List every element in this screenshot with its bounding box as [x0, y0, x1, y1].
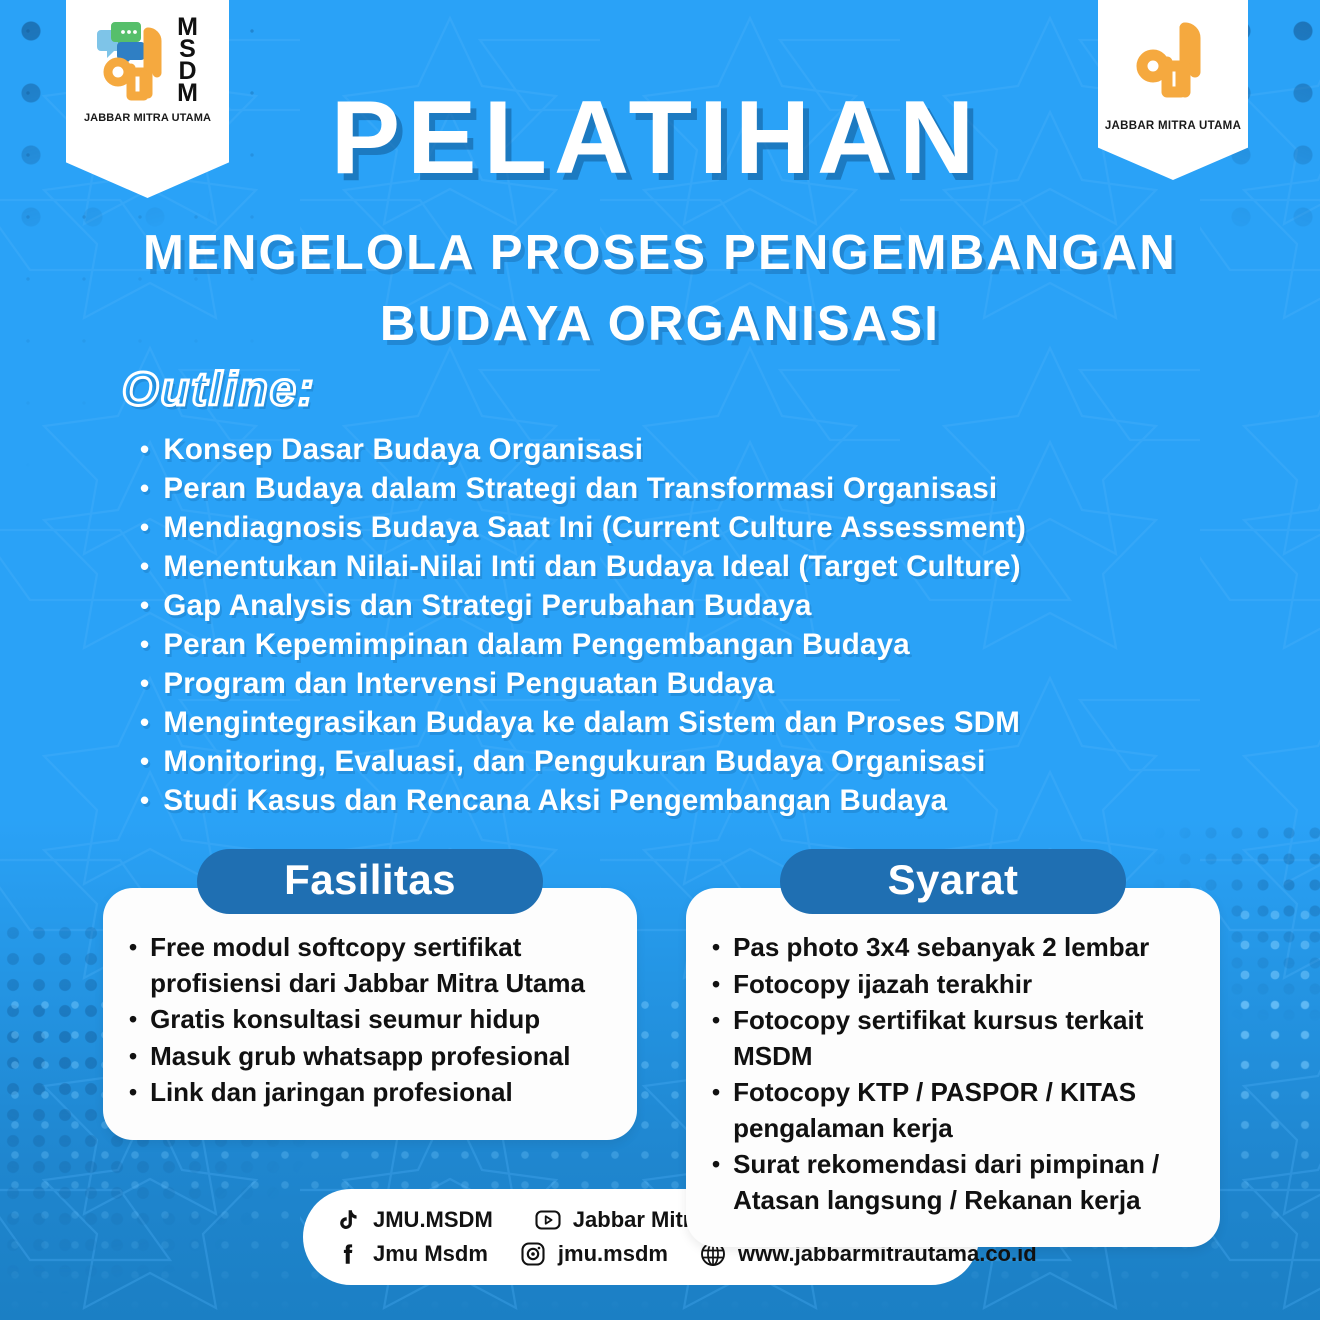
list-item: •Fotocopy sertifikat kursus terkait MSDM — [712, 1003, 1194, 1074]
list-item-label: Surat rekomendasi dari pimpinan / Atasan… — [733, 1147, 1194, 1218]
outline-item: •Gap Analysis dan Strategi Perubahan Bud… — [140, 586, 1200, 625]
list-item: •Free modul softcopy sertifikat profisie… — [129, 930, 611, 1001]
outline-item: •Peran Budaya dalam Strategi dan Transfo… — [140, 469, 1200, 508]
footer-contact-label: Jmu Msdm — [373, 1241, 488, 1267]
bullet-icon: • — [712, 930, 720, 966]
msdm-logo-mark: M S D M — [97, 16, 198, 104]
footer-contact-item[interactable]: JMU.MSDM — [333, 1205, 493, 1235]
list-item-label: Free modul softcopy sertifikat profisien… — [150, 930, 611, 1001]
bullet-icon: • — [712, 1075, 720, 1111]
syarat-card-body: •Pas photo 3x4 sebanyak 2 lembar•Fotocop… — [686, 888, 1220, 1247]
page-subtitle-line1: MENGELOLA PROSES PENGEMBANGAN — [60, 218, 1260, 289]
logo-banner-left: M S D M JABBAR MITRA UTAMA — [66, 0, 229, 198]
fasilitas-badge: Fasilitas — [197, 849, 543, 914]
logo-caption-left: JABBAR MITRA UTAMA — [84, 112, 211, 124]
outline-item-label: Menentukan Nilai-Nilai Inti dan Budaya I… — [163, 547, 1020, 586]
logo-caption-right: JABBAR MITRA UTAMA — [1105, 120, 1241, 132]
list-item: •Link dan jaringan profesional — [129, 1075, 611, 1111]
bullet-icon: • — [140, 469, 149, 508]
bullet-icon: • — [129, 1075, 137, 1111]
outline-item: •Peran Kepemimpinan dalam Pengembangan B… — [140, 625, 1200, 664]
syarat-badge: Syarat — [780, 849, 1126, 914]
outline-item-label: Konsep Dasar Budaya Organisasi — [163, 430, 643, 469]
outline-heading: Outline: — [122, 361, 316, 416]
page-title: PELATIHAN — [246, 86, 1066, 190]
outline-item: •Mendiagnosis Budaya Saat Ini (Current C… — [140, 508, 1200, 547]
bullet-icon: • — [129, 1002, 137, 1038]
fasilitas-card-body: •Free modul softcopy sertifikat profisie… — [103, 888, 637, 1140]
outline-item-label: Peran Kepemimpinan dalam Pengembangan Bu… — [163, 625, 910, 664]
bullet-icon: • — [140, 586, 149, 625]
instagram-icon[interactable] — [518, 1239, 548, 1269]
bullet-icon: • — [712, 1147, 720, 1183]
facebook-icon[interactable] — [333, 1239, 363, 1269]
bullet-icon: • — [140, 547, 149, 586]
poster-canvas: M S D M JABBAR MITRA UTAMA JABBAR MITRA … — [0, 0, 1320, 1320]
outline-item: •Mengintegrasikan Budaya ke dalam Sistem… — [140, 703, 1200, 742]
list-item: •Pas photo 3x4 sebanyak 2 lembar — [712, 930, 1194, 966]
bullet-icon: • — [140, 703, 149, 742]
bullet-icon: • — [140, 781, 149, 820]
msdm-logo-icon — [97, 16, 171, 104]
footer-contact-item[interactable]: jmu.msdm — [518, 1239, 668, 1269]
list-item: •Gratis konsultasi seumur hidup — [129, 1002, 611, 1038]
list-item-label: Fotocopy ijazah terakhir — [733, 967, 1032, 1003]
fasilitas-list: •Free modul softcopy sertifikat profisie… — [129, 930, 611, 1111]
list-item-label: Gratis konsultasi seumur hidup — [150, 1002, 540, 1038]
outline-item-label: Mengintegrasikan Budaya ke dalam Sistem … — [163, 703, 1020, 742]
page-subtitle-line2: BUDAYA ORGANISASI — [60, 289, 1260, 360]
list-item: •Surat rekomendasi dari pimpinan / Atasa… — [712, 1147, 1194, 1218]
youtube-icon[interactable] — [533, 1205, 563, 1235]
outline-item-label: Gap Analysis dan Strategi Perubahan Buda… — [163, 586, 811, 625]
bullet-icon: • — [129, 930, 137, 966]
outline-item: •Program dan Intervensi Penguatan Budaya — [140, 664, 1200, 703]
msdm-letters: M S D M — [177, 16, 198, 104]
bullet-icon: • — [140, 430, 149, 469]
bullet-icon: • — [140, 508, 149, 547]
list-item-label: Link dan jaringan profesional — [150, 1075, 513, 1111]
bullet-icon: • — [129, 1039, 137, 1075]
tiktok-icon[interactable] — [333, 1205, 363, 1235]
fasilitas-card: Fasilitas •Free modul softcopy sertifika… — [103, 849, 637, 1140]
syarat-list: •Pas photo 3x4 sebanyak 2 lembar•Fotocop… — [712, 930, 1194, 1218]
syarat-card: Syarat •Pas photo 3x4 sebanyak 2 lembar•… — [686, 849, 1220, 1247]
list-item-label: Masuk grub whatsapp profesional — [150, 1039, 570, 1075]
outline-item: •Monitoring, Evaluasi, dan Pengukuran Bu… — [140, 742, 1200, 781]
footer-contact-item[interactable]: Jmu Msdm — [333, 1239, 488, 1269]
bullet-icon: • — [140, 625, 149, 664]
outline-item-label: Program dan Intervensi Penguatan Budaya — [163, 664, 774, 703]
jabbar-mitra-utama-logo-icon — [1133, 14, 1213, 114]
bullet-icon: • — [712, 1003, 720, 1039]
outline-item-label: Monitoring, Evaluasi, dan Pengukuran Bud… — [163, 742, 985, 781]
outline-item-label: Mendiagnosis Budaya Saat Ini (Current Cu… — [163, 508, 1026, 547]
outline-item: •Studi Kasus dan Rencana Aksi Pengembang… — [140, 781, 1200, 820]
list-item-label: Fotocopy sertifikat kursus terkait MSDM — [733, 1003, 1194, 1074]
list-item: •Fotocopy KTP / PASPOR / KITAS pengalama… — [712, 1075, 1194, 1146]
list-item-label: Pas photo 3x4 sebanyak 2 lembar — [733, 930, 1149, 966]
footer-contact-label: jmu.msdm — [558, 1241, 668, 1267]
outline-item-label: Peran Budaya dalam Strategi dan Transfor… — [163, 469, 997, 508]
footer-contact-label: JMU.MSDM — [373, 1207, 493, 1233]
list-item: •Masuk grub whatsapp profesional — [129, 1039, 611, 1075]
outline-list: •Konsep Dasar Budaya Organisasi•Peran Bu… — [140, 430, 1200, 820]
page-subtitle: MENGELOLA PROSES PENGEMBANGAN BUDAYA ORG… — [60, 218, 1260, 360]
bullet-icon: • — [140, 664, 149, 703]
outline-item: •Konsep Dasar Budaya Organisasi — [140, 430, 1200, 469]
bullet-icon: • — [140, 742, 149, 781]
outline-item-label: Studi Kasus dan Rencana Aksi Pengembanga… — [163, 781, 947, 820]
bullet-icon: • — [712, 967, 720, 1003]
logo-banner-right: JABBAR MITRA UTAMA — [1098, 0, 1248, 180]
outline-item: •Menentukan Nilai-Nilai Inti dan Budaya … — [140, 547, 1200, 586]
list-item: •Fotocopy ijazah terakhir — [712, 967, 1194, 1003]
msdm-letter: M — [177, 82, 198, 104]
list-item-label: Fotocopy KTP / PASPOR / KITAS pengalaman… — [733, 1075, 1194, 1146]
